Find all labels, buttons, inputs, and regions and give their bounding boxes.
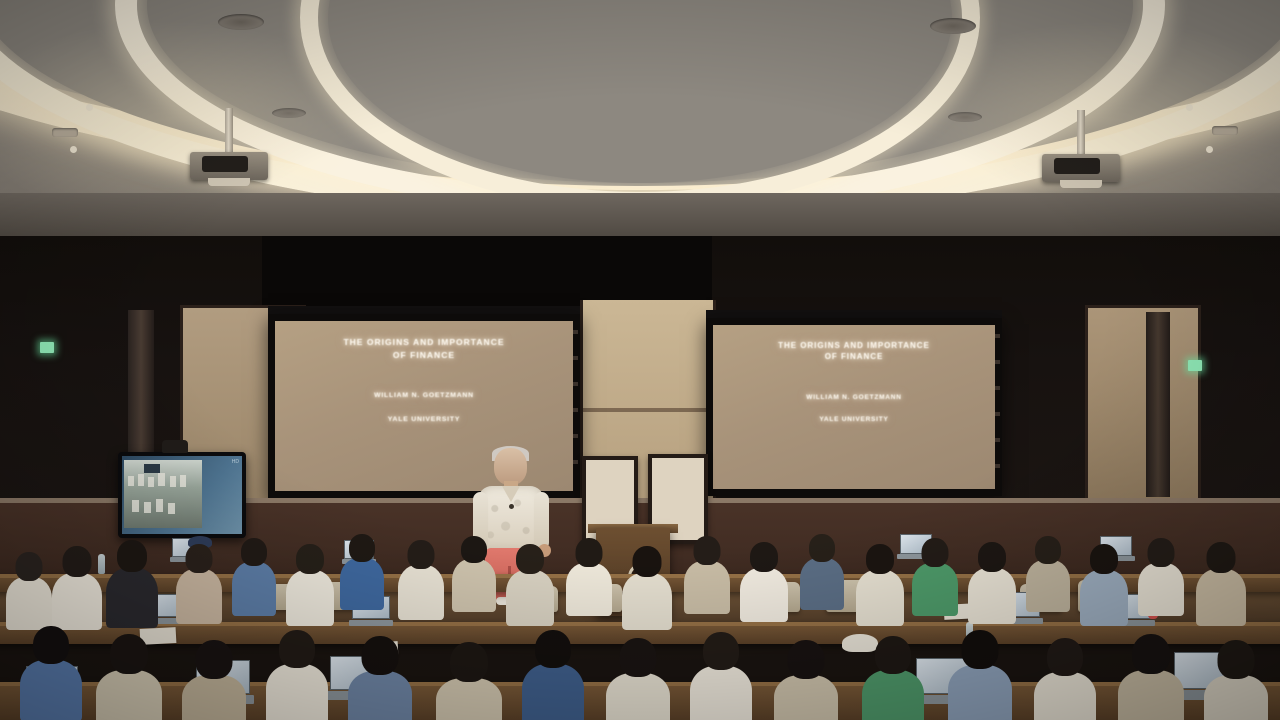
- ceiling-downlight-right-2: [1186, 104, 1193, 111]
- attendee-head: [962, 630, 999, 669]
- attendee: [606, 638, 670, 720]
- attendee-head: [535, 630, 571, 668]
- attendee-head: [296, 544, 324, 574]
- attendee-torso: [1204, 675, 1268, 720]
- attendee-torso: [1138, 563, 1184, 616]
- screen-edge-clip: [995, 360, 1000, 364]
- attendee-head: [1035, 536, 1061, 564]
- attendee-torso: [856, 570, 904, 626]
- attendee: [740, 542, 788, 622]
- attendee-torso: [1080, 570, 1128, 626]
- attendee-torso: [452, 559, 496, 612]
- attendee-torso: [522, 664, 584, 720]
- exit-sign-right: [1188, 360, 1202, 371]
- ceiling-projector-left: [190, 108, 268, 188]
- attendee: [6, 552, 52, 630]
- attendee: [506, 544, 554, 626]
- presenter-head: [494, 448, 527, 485]
- attendee-torso: [774, 675, 838, 720]
- screen-edge-clip: [995, 386, 1000, 390]
- attendee-head: [1218, 640, 1255, 679]
- screen-edge-clip: [995, 464, 1000, 468]
- slide-affiliation: YALE UNIVERSITY: [713, 416, 995, 423]
- attendee-head: [1090, 544, 1118, 574]
- attendee: [774, 640, 838, 720]
- ceiling-downlight-slot-left: [52, 128, 78, 137]
- attendee: [452, 536, 496, 612]
- screen-edge-clip: [573, 330, 578, 334]
- slide-affiliation: YALE UNIVERSITY: [275, 416, 573, 423]
- attendee-head: [110, 634, 148, 674]
- attendee: [862, 636, 924, 720]
- lecture-hall-photograph: THE ORIGINS AND IMPORTANCE OF FINANCE WI…: [0, 0, 1280, 720]
- attendee-torso: [348, 671, 412, 720]
- screen-edge-clip: [573, 460, 578, 464]
- attendee-head: [362, 636, 399, 675]
- attendee: [912, 538, 958, 616]
- attendee: [800, 534, 844, 610]
- screen-edge-clip: [573, 356, 578, 360]
- projector-mount-pole: [225, 108, 233, 154]
- attendee-torso: [106, 568, 158, 628]
- attendee-head: [516, 544, 544, 574]
- attendee-torso: [6, 577, 52, 630]
- monitor-camera-icon: [162, 440, 188, 453]
- attendee: [948, 630, 1012, 720]
- attendee-head: [788, 640, 825, 679]
- slide-author: WILLIAM N. GOETZMANN: [713, 394, 995, 401]
- attendee: [176, 544, 222, 624]
- attendee-torso: [436, 678, 502, 720]
- exit-sign-left: [40, 342, 54, 353]
- attendee-torso: [1118, 670, 1184, 720]
- attendee: [1026, 536, 1070, 612]
- monitor-badge: HD: [232, 459, 239, 465]
- attendee-head: [1207, 542, 1236, 573]
- wall-panel-right: [1085, 305, 1201, 506]
- attendee-head: [875, 636, 911, 674]
- attendee: [856, 544, 904, 626]
- screen-surface: THE ORIGINS AND IMPORTANCE OF FINANCE WI…: [713, 325, 995, 489]
- attendee-head: [694, 536, 721, 565]
- screen-edge-clip: [995, 334, 1000, 338]
- attendee: [96, 634, 162, 720]
- attendee-torso: [912, 563, 958, 616]
- attendee-torso: [740, 568, 788, 622]
- attendee: [106, 540, 158, 628]
- attendee-head: [196, 640, 233, 679]
- attendee-torso: [52, 573, 102, 630]
- projector-lens: [202, 156, 248, 172]
- screen-edge-clip: [995, 438, 1000, 442]
- attendee-torso: [690, 666, 752, 720]
- slide-title: THE ORIGINS AND IMPORTANCE OF FINANCE: [713, 340, 995, 363]
- ceiling-vent-left: [218, 14, 264, 30]
- attendee-torso: [1026, 560, 1070, 612]
- attendee-head: [186, 544, 213, 573]
- attendee-torso: [20, 660, 82, 720]
- attendee-head: [349, 534, 375, 562]
- attendee-head: [279, 630, 315, 668]
- attendee: [436, 642, 502, 720]
- screen-edge-clip: [573, 382, 578, 386]
- attendee-torso: [968, 568, 1016, 624]
- ceiling-detector-right: [948, 112, 982, 122]
- attendee-head: [978, 542, 1006, 572]
- screen-frame: THE ORIGINS AND IMPORTANCE OF FINANCE WI…: [706, 318, 1002, 496]
- attendee-head: [117, 540, 147, 572]
- attendee: [1196, 542, 1246, 626]
- attendee-torso: [96, 670, 162, 720]
- attendee-torso: [566, 563, 612, 616]
- projection-screen-right: THE ORIGINS AND IMPORTANCE OF FINANCE WI…: [706, 310, 1002, 496]
- attendee: [1118, 634, 1184, 720]
- ceiling-vent-right: [930, 18, 976, 34]
- attendee-torso: [182, 675, 246, 720]
- ceiling-downlight-right: [1206, 146, 1213, 153]
- ceiling-projector-right: [1042, 110, 1120, 190]
- attendee: [690, 632, 752, 720]
- attendee: [1138, 538, 1184, 616]
- attendee: [348, 636, 412, 720]
- projector-mount-pole: [1077, 110, 1085, 156]
- ceiling-downlight-slot-right: [1212, 126, 1238, 135]
- attendee: [566, 538, 612, 616]
- ceiling-downlight-left-2: [86, 104, 93, 111]
- attendee-torso: [232, 562, 276, 616]
- attendee-head: [576, 538, 603, 567]
- attendee-head: [620, 638, 657, 677]
- ceiling-detector-left: [272, 108, 306, 118]
- attendee: [52, 546, 102, 630]
- attendee: [1204, 640, 1268, 720]
- attendee-head: [809, 534, 835, 562]
- attendee-torso: [1196, 569, 1246, 626]
- attendee-head: [922, 538, 949, 567]
- projector-foot: [208, 178, 250, 186]
- attendee-head: [1148, 538, 1175, 567]
- attendee-torso: [1034, 672, 1096, 720]
- attendee-head: [241, 538, 267, 566]
- attendee: [266, 630, 328, 720]
- attendee-torso: [398, 565, 444, 620]
- attendee-head: [703, 632, 739, 670]
- slide-author: WILLIAM N. GOETZMANN: [275, 392, 573, 399]
- presenter-lapel-mic: [509, 504, 514, 509]
- wall-pilaster-right: [1146, 312, 1170, 497]
- attendee: [286, 544, 334, 626]
- attendee-torso: [286, 570, 334, 626]
- attendee: [232, 538, 276, 616]
- ceiling-downlight-left: [70, 146, 77, 153]
- attendee-torso: [684, 561, 730, 614]
- attendee: [968, 542, 1016, 624]
- attendee-torso: [266, 664, 328, 720]
- attendee-torso: [622, 573, 672, 630]
- attendee-head: [461, 536, 487, 563]
- attendee-head: [16, 552, 43, 581]
- attendee: [20, 626, 82, 720]
- attendee-torso: [948, 665, 1012, 720]
- attendee: [522, 630, 584, 720]
- attendee-head: [63, 546, 92, 577]
- attendee-torso: [606, 673, 670, 720]
- attendee-head: [408, 540, 435, 569]
- attendee-torso: [862, 670, 924, 720]
- attendee-torso: [176, 569, 222, 624]
- attendee-head: [1132, 634, 1170, 674]
- attendee-head: [1047, 638, 1083, 676]
- attendee: [1034, 638, 1096, 720]
- attendee-torso: [506, 570, 554, 626]
- projector-lens: [1054, 158, 1100, 174]
- screen-edge-clip: [573, 434, 578, 438]
- attendee: [684, 536, 730, 614]
- attendee: [398, 540, 444, 620]
- cove-ceiling: [0, 0, 1280, 245]
- attendee-torso: [800, 558, 844, 610]
- projector-foot: [1060, 180, 1102, 188]
- attendee: [622, 546, 672, 630]
- attendee: [340, 534, 384, 610]
- attendee-torso: [340, 558, 384, 610]
- attendee-head: [633, 546, 662, 577]
- attendee-head: [33, 626, 69, 664]
- screen-edge-clip: [573, 408, 578, 412]
- slide-title: THE ORIGINS AND IMPORTANCE OF FINANCE: [275, 336, 573, 361]
- attendee-head: [450, 642, 488, 682]
- screen-edge-clip: [995, 412, 1000, 416]
- attendee-head: [866, 544, 894, 574]
- attendee: [1080, 544, 1128, 626]
- attendee: [182, 640, 246, 720]
- audience-area: [0, 510, 1280, 720]
- attendee-head: [750, 542, 778, 572]
